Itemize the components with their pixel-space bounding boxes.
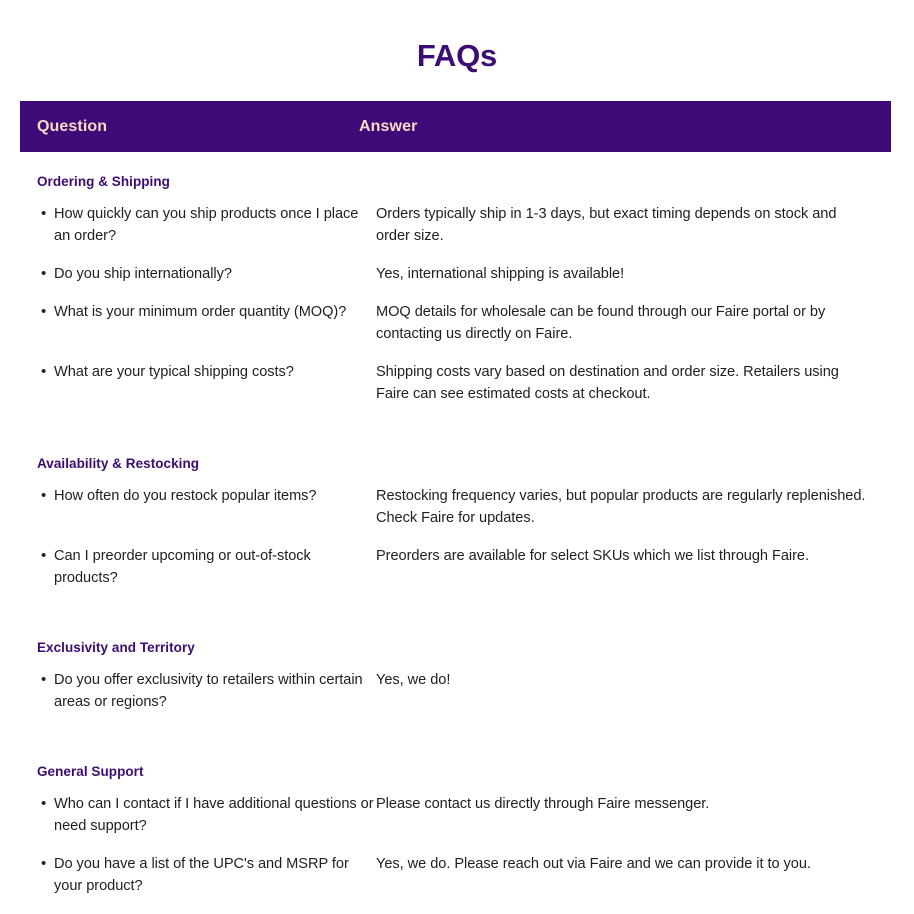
table-header-row: Question Answer: [20, 101, 891, 152]
faq-answer-text: Shipping costs vary based on destination…: [376, 364, 839, 402]
faq-answer-cell: Yes, we do!: [375, 669, 891, 691]
faq-question-cell: •Do you have a list of the UPC's and MSR…: [20, 853, 375, 897]
faq-section-title: General Support: [20, 742, 891, 785]
faq-answer-cell: Orders typically ship in 1-3 days, but e…: [375, 203, 891, 247]
faq-question-text: Can I preorder upcoming or out-of-stock …: [54, 548, 311, 586]
faq-section: Ordering & Shipping•How quickly can you …: [20, 152, 891, 413]
bullet-icon: •: [41, 301, 46, 323]
faq-question-text: How quickly can you ship products once I…: [54, 206, 358, 244]
faq-answer-cell: Shipping costs vary based on destination…: [375, 361, 891, 405]
faq-row: •Do you ship internationally?Yes, intern…: [20, 255, 891, 293]
bullet-icon: •: [41, 485, 46, 507]
faq-answer-cell: Yes, we do. Please reach out via Faire a…: [375, 853, 891, 875]
faq-answer-cell: Yes, international shipping is available…: [375, 263, 891, 285]
bullet-icon: •: [41, 361, 46, 383]
faq-question-text: What are your typical shipping costs?: [54, 364, 294, 380]
faq-question-cell: •Do you offer exclusivity to retailers w…: [20, 669, 375, 713]
faq-section: Exclusivity and Territory•Do you offer e…: [20, 618, 891, 721]
faq-answer-text: Preorders are available for select SKUs …: [376, 548, 809, 564]
faq-question-cell: •Who can I contact if I have additional …: [20, 793, 375, 837]
faq-answer-cell: Preorders are available for select SKUs …: [375, 545, 891, 567]
faq-answer-cell: Restocking frequency varies, but popular…: [375, 485, 891, 529]
faq-row: •Do you offer exclusivity to retailers w…: [20, 661, 891, 721]
faq-row: •What are your typical shipping costs?Sh…: [20, 353, 891, 413]
faq-question-text: How often do you restock popular items?: [54, 488, 317, 504]
faq-section: General Support•Who can I contact if I h…: [20, 742, 891, 905]
page-title: FAQs: [0, 0, 914, 74]
faq-table-body: Ordering & Shipping•How quickly can you …: [20, 152, 891, 905]
bullet-icon: •: [41, 793, 46, 815]
faq-section-title: Availability & Restocking: [20, 434, 891, 477]
column-header-answer: Answer: [359, 118, 417, 136]
faq-question-text: Do you offer exclusivity to retailers wi…: [54, 672, 363, 710]
faq-question-text: What is your minimum order quantity (MOQ…: [54, 304, 346, 320]
faq-row: •How quickly can you ship products once …: [20, 195, 891, 255]
faq-page: FAQs Question Answer Ordering & Shipping…: [0, 0, 914, 914]
faq-row: •What is your minimum order quantity (MO…: [20, 293, 891, 353]
faq-answer-cell: Please contact us directly through Faire…: [375, 793, 891, 815]
column-header-question: Question: [20, 118, 359, 136]
faq-section-title: Ordering & Shipping: [20, 152, 891, 195]
bullet-icon: •: [41, 853, 46, 875]
faq-question-text: Who can I contact if I have additional q…: [54, 796, 374, 834]
faq-answer-cell: MOQ details for wholesale can be found t…: [375, 301, 891, 345]
faq-answer-text: Restocking frequency varies, but popular…: [376, 488, 865, 526]
faq-question-text: Do you ship internationally?: [54, 266, 232, 282]
bullet-icon: •: [41, 203, 46, 225]
faq-question-cell: •Do you ship internationally?: [20, 263, 375, 285]
faq-row: •Who can I contact if I have additional …: [20, 785, 891, 845]
faq-question-cell: •How quickly can you ship products once …: [20, 203, 375, 247]
faq-answer-text: Yes, we do!: [376, 672, 450, 688]
bullet-icon: •: [41, 545, 46, 567]
faq-answer-text: Yes, we do. Please reach out via Faire a…: [376, 856, 811, 872]
faq-question-text: Do you have a list of the UPC's and MSRP…: [54, 856, 349, 894]
faq-question-cell: •How often do you restock popular items?: [20, 485, 375, 507]
bullet-icon: •: [41, 669, 46, 691]
bullet-icon: •: [41, 263, 46, 285]
faq-question-cell: •Can I preorder upcoming or out-of-stock…: [20, 545, 375, 589]
faq-row: •Can I preorder upcoming or out-of-stock…: [20, 537, 891, 597]
faq-answer-text: Orders typically ship in 1-3 days, but e…: [376, 206, 836, 244]
faq-question-cell: •What are your typical shipping costs?: [20, 361, 375, 383]
faq-question-cell: •What is your minimum order quantity (MO…: [20, 301, 375, 323]
faq-section: Availability & Restocking•How often do y…: [20, 434, 891, 597]
faq-answer-text: Please contact us directly through Faire…: [376, 796, 709, 812]
faq-row: •Do you have a list of the UPC's and MSR…: [20, 845, 891, 905]
faq-section-title: Exclusivity and Territory: [20, 618, 891, 661]
faq-answer-text: MOQ details for wholesale can be found t…: [376, 304, 825, 342]
faq-row: •How often do you restock popular items?…: [20, 477, 891, 537]
faq-answer-text: Yes, international shipping is available…: [376, 266, 624, 282]
